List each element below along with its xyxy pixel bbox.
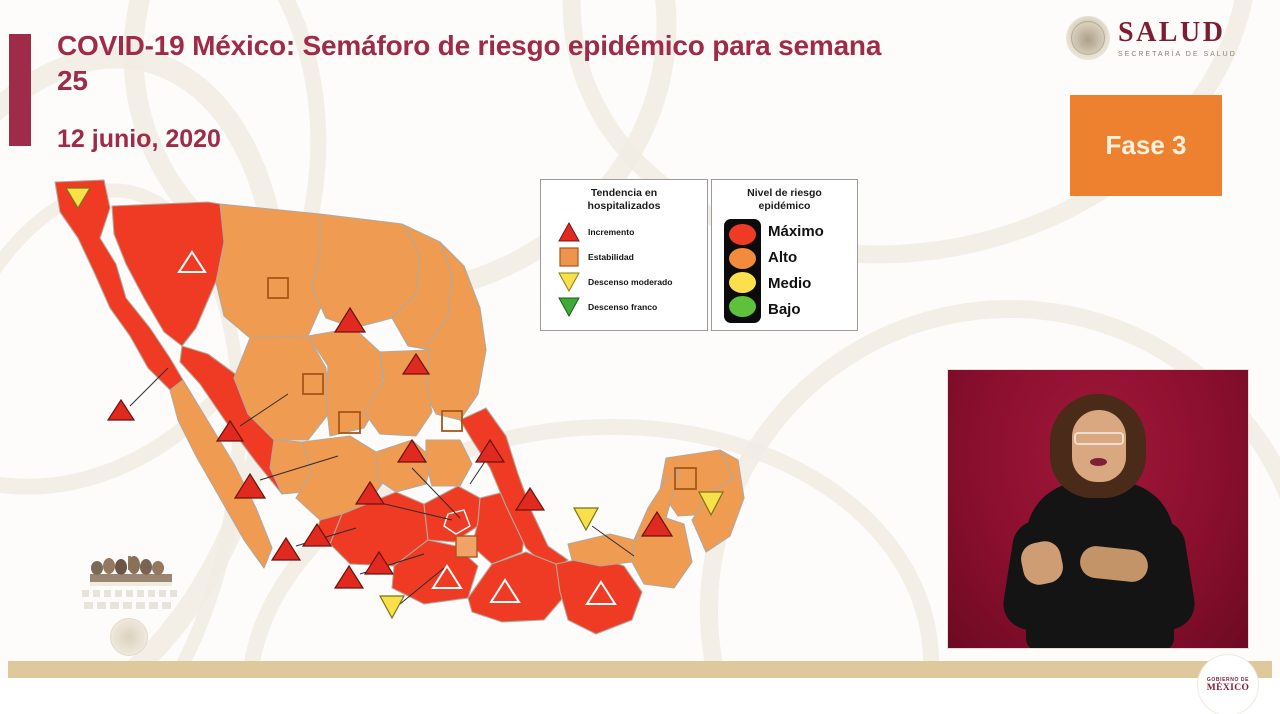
marker-triangle-up-red bbox=[108, 400, 134, 420]
brand-text-line-2 bbox=[84, 602, 174, 609]
marker-square-orange bbox=[456, 536, 477, 557]
risk-label-alto: Alto bbox=[768, 250, 824, 265]
state-hidalgo bbox=[426, 440, 472, 486]
state-guanajuato bbox=[376, 440, 432, 492]
title-accent-bar bbox=[9, 34, 31, 146]
mexican-eagle-seal-icon bbox=[110, 618, 148, 656]
footer-strip bbox=[8, 661, 1272, 678]
risk-label-bajo: Bajo bbox=[768, 302, 824, 317]
gobierno-de-mexico-logo: GOBIERNO DE MÉXICO bbox=[1198, 655, 1258, 714]
gobierno-brand-bottom-left bbox=[82, 556, 180, 652]
historical-figures-icon bbox=[90, 556, 172, 586]
page-date: 12 junio, 2020 bbox=[57, 125, 221, 154]
sign-language-interpreter-video[interactable] bbox=[948, 370, 1248, 648]
interpreter-glasses bbox=[1074, 432, 1124, 445]
marker-triangle-up-red bbox=[272, 538, 300, 560]
state-chiapas bbox=[556, 556, 642, 634]
footer-white-band bbox=[0, 678, 1280, 714]
marker-triangle-down-yellow bbox=[380, 596, 404, 618]
gob-logo-main-text: MÉXICO bbox=[1207, 683, 1250, 693]
interpreter-mouth bbox=[1090, 458, 1107, 466]
page-title: COVID-19 México: Semáforo de riesgo epid… bbox=[57, 28, 907, 98]
marker-triangle-up-red bbox=[335, 566, 363, 588]
interpreter-face bbox=[1072, 410, 1126, 482]
salud-wordmark: SALUD bbox=[1118, 19, 1237, 47]
risk-label-maximo: Máximo bbox=[768, 224, 824, 239]
brand-text-line-1 bbox=[82, 590, 178, 597]
marker-triangle-down-yellow bbox=[574, 508, 598, 530]
presentation-slide: COVID-19 México: Semáforo de riesgo epid… bbox=[0, 0, 1280, 714]
phase-badge: Fase 3 bbox=[1070, 95, 1222, 196]
mexican-eagle-seal-icon bbox=[1066, 16, 1110, 60]
salud-subtitle: SECRETARÍA DE SALUD bbox=[1118, 51, 1237, 58]
risk-label-medio: Medio bbox=[768, 276, 824, 291]
salud-logo: SALUD SECRETARÍA DE SALUD bbox=[1066, 16, 1237, 60]
state-oaxaca bbox=[468, 552, 568, 622]
state-tabasco bbox=[568, 534, 634, 566]
